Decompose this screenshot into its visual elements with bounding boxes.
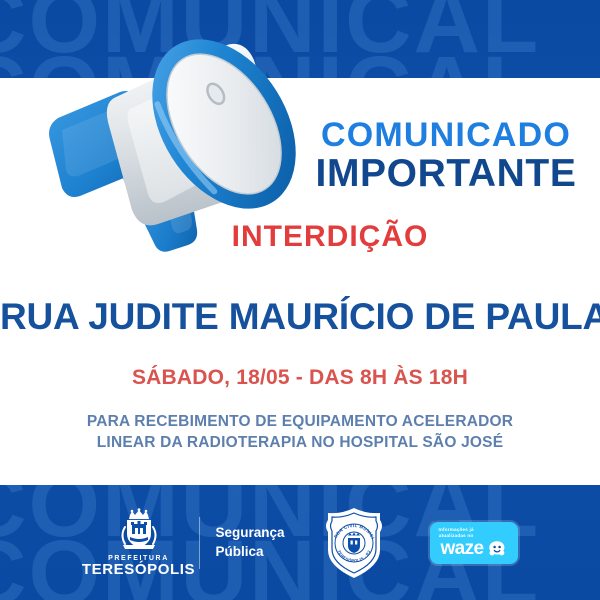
footer-logos: PREFEITURA TERESÓPOLIS Segurança Pública…	[0, 485, 600, 600]
description-block: PARA RECEBIMENTO DE EQUIPAMENTO ACELERAD…	[0, 412, 600, 454]
poster-canvas: COMUNICAL COMUNICAL COMUNICAL COMUNICAL	[0, 0, 600, 600]
title-line-comunicado: COMUNICADO	[300, 118, 592, 153]
schedule-text: SÁBADO, 18/05 - DAS 8H ÀS 18H	[0, 366, 600, 390]
police-shield-icon: GUARDA CIVIL MUNICIPAL TERESÓPOLIS - RJ	[322, 506, 386, 580]
subject-label: INTERDIÇÃO	[180, 220, 480, 254]
coat-of-arms-icon	[116, 507, 162, 553]
description-line-1: PARA RECEBIMENTO DE EQUIPAMENTO ACELERAD…	[0, 412, 600, 433]
footer-divider	[199, 517, 200, 569]
waze-badge[interactable]: Informações já atualizadas no waze	[430, 522, 518, 564]
department-label: Segurança Pública	[216, 524, 312, 560]
poster-title: COMUNICADO IMPORTANTE	[300, 118, 592, 193]
department-line-1: Segurança	[216, 524, 312, 542]
prefeitura-logo: PREFEITURA TERESÓPOLIS	[83, 507, 195, 578]
waze-wordmark-group: waze	[440, 539, 506, 558]
street-headline: RUA JUDITE MAURÍCIO DE PAULA, NO IUCAS	[0, 296, 600, 338]
title-line-importante: IMPORTANTE	[300, 154, 592, 194]
waze-wordmark: waze	[440, 539, 483, 558]
department-line-2: Pública	[216, 543, 312, 561]
description-line-2: LINEAR DA RADIOTERAPIA NO HOSPITAL SÃO J…	[0, 433, 600, 454]
waze-note-line-1: Informações já	[439, 527, 474, 533]
prefeitura-name-label: TERESÓPOLIS	[82, 562, 195, 578]
waze-note: Informações já atualizadas no	[439, 527, 474, 538]
waze-smiley-icon	[487, 540, 507, 558]
